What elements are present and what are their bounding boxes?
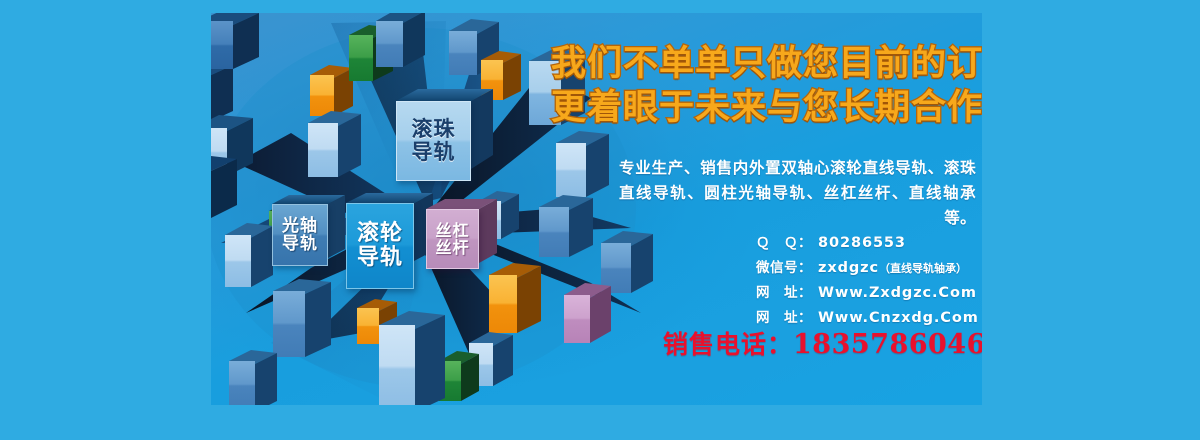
contact-row-website-1[interactable]: 网 址： Www.Zxdgzc.Com xyxy=(756,281,982,306)
banner-text-column: 我们不单单只做您目前的订单 更着眼于未来与您长期合作 专业生产、销售内外置双轴心… xyxy=(551,13,982,405)
chip-line-2: 丝杆 xyxy=(435,239,469,256)
contact-value-wechat: zxdgzc xyxy=(818,256,879,281)
banner-panel: 滚珠 导轨 光轴 导轨 滚轮 导轨 丝杠 丝杆 我们不单单只做您目前的订单 更着… xyxy=(211,13,982,405)
contact-note-wechat: （直线导轨轴承） xyxy=(879,260,967,279)
sales-phone-number[interactable]: 18357860469 xyxy=(793,329,982,360)
contact-label-website-1: 网 址： xyxy=(756,282,818,305)
contact-row-wechat: 微信号： zxdgzc （直线导轨轴承） xyxy=(756,256,982,281)
product-chip-sigang-sigan: 丝杠 丝杆 xyxy=(426,209,479,269)
sales-phone: 销售电话：18357860469 xyxy=(663,325,982,361)
chip-line-2: 导轨 xyxy=(282,235,318,253)
product-chip-gunlun-daogui: 滚轮 导轨 xyxy=(346,203,414,289)
description-text: 专业生产、销售内外置双轴心滚轮直线导轨、滚珠直线导轨、圆柱光轴导轨、丝杠丝杆、直… xyxy=(619,156,976,231)
chip-line-2: 导轨 xyxy=(357,246,403,270)
chip-line-1: 丝杠 xyxy=(435,222,469,239)
chip-line-1: 滚轮 xyxy=(357,222,403,246)
headline-line-1: 我们不单单只做您目前的订单 xyxy=(551,43,976,87)
contact-label-qq: Ｑ Ｑ： xyxy=(756,232,818,255)
product-chip-guangzhou-daogui: 光轴 导轨 xyxy=(272,204,328,266)
product-chip-gunzhu-daogui: 滚珠 导轨 xyxy=(396,101,471,181)
contact-block: Ｑ Ｑ： 80286553 微信号： zxdgzc （直线导轨轴承） 网 址： … xyxy=(756,231,982,331)
chip-line-1: 滚珠 xyxy=(412,118,456,141)
sales-phone-label: 销售电话： xyxy=(663,330,793,359)
banner-root: 滚珠 导轨 光轴 导轨 滚轮 导轨 丝杠 丝杆 我们不单单只做您目前的订单 更着… xyxy=(0,0,1200,440)
contact-value-website-1[interactable]: Www.Zxdgzc.Com xyxy=(818,281,977,306)
headline: 我们不单单只做您目前的订单 更着眼于未来与您长期合作 xyxy=(551,43,976,131)
contact-label-wechat: 微信号： xyxy=(756,257,818,280)
headline-line-2: 更着眼于未来与您长期合作 xyxy=(551,87,976,131)
chip-line-1: 光轴 xyxy=(282,217,318,235)
contact-row-qq: Ｑ Ｑ： 80286553 xyxy=(756,231,982,256)
contact-value-qq: 80286553 xyxy=(818,231,906,256)
chip-line-2: 导轨 xyxy=(412,141,456,164)
